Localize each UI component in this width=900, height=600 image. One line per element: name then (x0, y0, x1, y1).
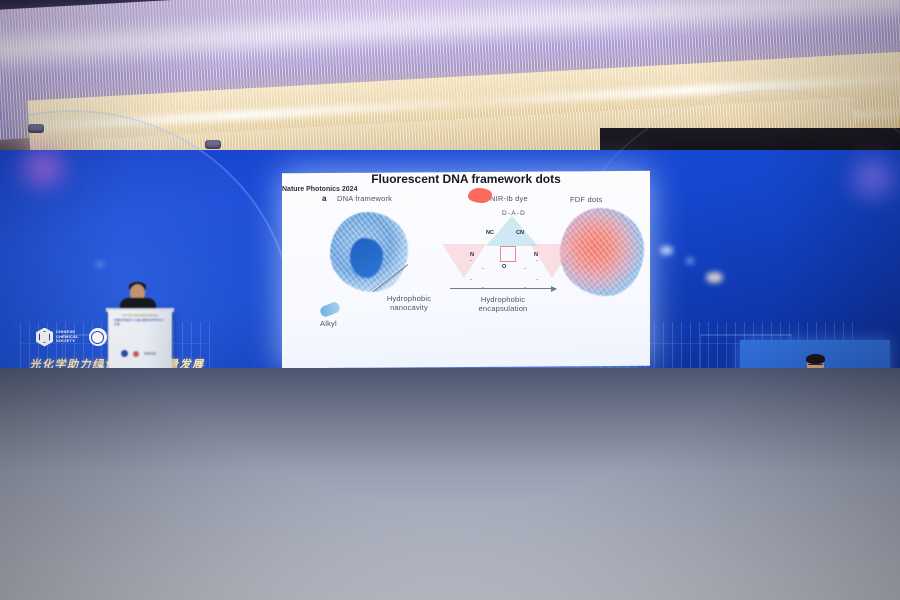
slide-citation: Nature Photonics 2024 (282, 186, 650, 193)
podium-nameplate: 光化学助力绿色低碳高质量发展 中国化学会第十九届全国光化学学术讨论会 (114, 314, 166, 325)
encapsulation-arrow (450, 288, 556, 289)
ccs-logo-text: CHINESE CHEMICAL SOCIETY (56, 330, 79, 344)
audience-area (0, 368, 900, 600)
seal-icon (89, 328, 107, 346)
podium-logo-icon (121, 350, 128, 357)
spotlight-can (205, 140, 221, 149)
atom-label-o: O (502, 264, 506, 270)
label-dna-framework: DNA framework (337, 194, 392, 203)
podium-logo-icon (133, 351, 139, 357)
backdrop-glow-orb (8, 144, 78, 192)
podium-logos (121, 350, 156, 357)
lens-flare (706, 272, 723, 283)
slide-caption: Fluorescent DNA framework dots (282, 172, 650, 186)
backdrop-glow-orb (838, 152, 900, 204)
atom-label-cn: CN (516, 230, 524, 236)
presentation-screen: a DNA framework NIR-Ib dye FDF dots D-A-… (282, 171, 650, 369)
slide-panel-label: a (322, 194, 327, 203)
atom-label-nc: NC (486, 230, 494, 236)
label-hydrophobic-encapsulation: Hydrophobic encapsulation (464, 295, 542, 313)
lens-flare (660, 246, 673, 255)
atom-label-n-right: N (534, 252, 538, 258)
nir-dye-blob (468, 188, 492, 203)
chinese-chemical-society-logo: CHINESE CHEMICAL SOCIETY (36, 328, 79, 347)
hexagon-icon (36, 328, 53, 347)
label-fdf-dots: FDF dots (570, 195, 602, 204)
lens-flare (96, 262, 103, 267)
lens-flare (686, 258, 694, 264)
chemical-structure-diagram: NC CN N O N (442, 216, 574, 294)
label-alkyl: Alkyl (320, 319, 337, 328)
hair (806, 354, 825, 364)
dna-framework-structure (330, 212, 408, 292)
label-hydrophobic-nanocavity: Hydrophobic nanocavity (378, 294, 440, 312)
label-nir-dye: NIR-Ib dye (490, 194, 528, 203)
conference-photo: CHINESE CHEMICAL SOCIETY 四川大学 SICHUAN UN… (0, 0, 900, 600)
atom-label-n-left: N (470, 252, 474, 258)
podium-logo-wordmark (144, 352, 156, 355)
squaraine-ring (500, 246, 516, 262)
alkyl-chain-icon (319, 301, 342, 319)
